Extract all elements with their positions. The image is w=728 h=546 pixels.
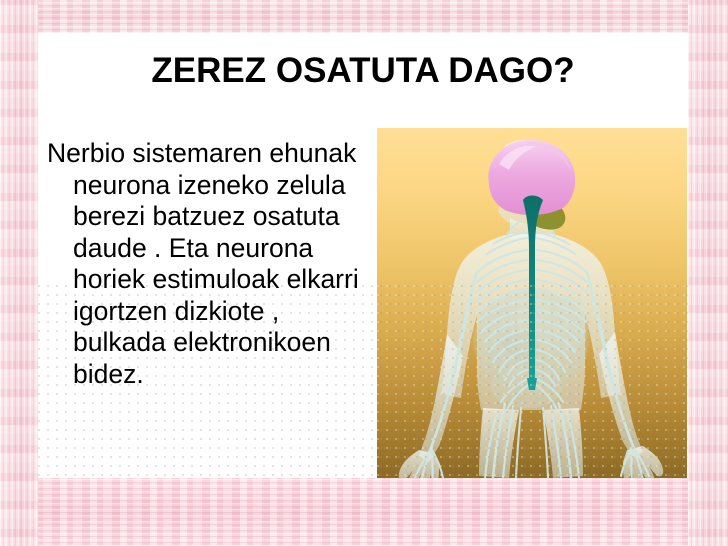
slide-body-text: Nerbio sistemaren ehunak neurona izeneko… <box>47 138 367 390</box>
slide: ZEREZ OSATUTA DAGO? Nerbio sistemaren eh… <box>0 0 728 546</box>
image-dot-texture <box>377 285 687 478</box>
decorative-border-top <box>0 0 728 33</box>
nervous-system-image <box>377 128 687 478</box>
decorative-border-right <box>688 0 728 546</box>
slide-content-panel: ZEREZ OSATUTA DAGO? Nerbio sistemaren eh… <box>38 33 688 478</box>
decorative-border-bottom <box>0 478 728 546</box>
body-paragraph: Nerbio sistemaren ehunak neurona izeneko… <box>47 138 367 390</box>
slide-title: ZEREZ OSATUTA DAGO? <box>38 50 688 92</box>
decorative-border-left <box>0 0 38 546</box>
